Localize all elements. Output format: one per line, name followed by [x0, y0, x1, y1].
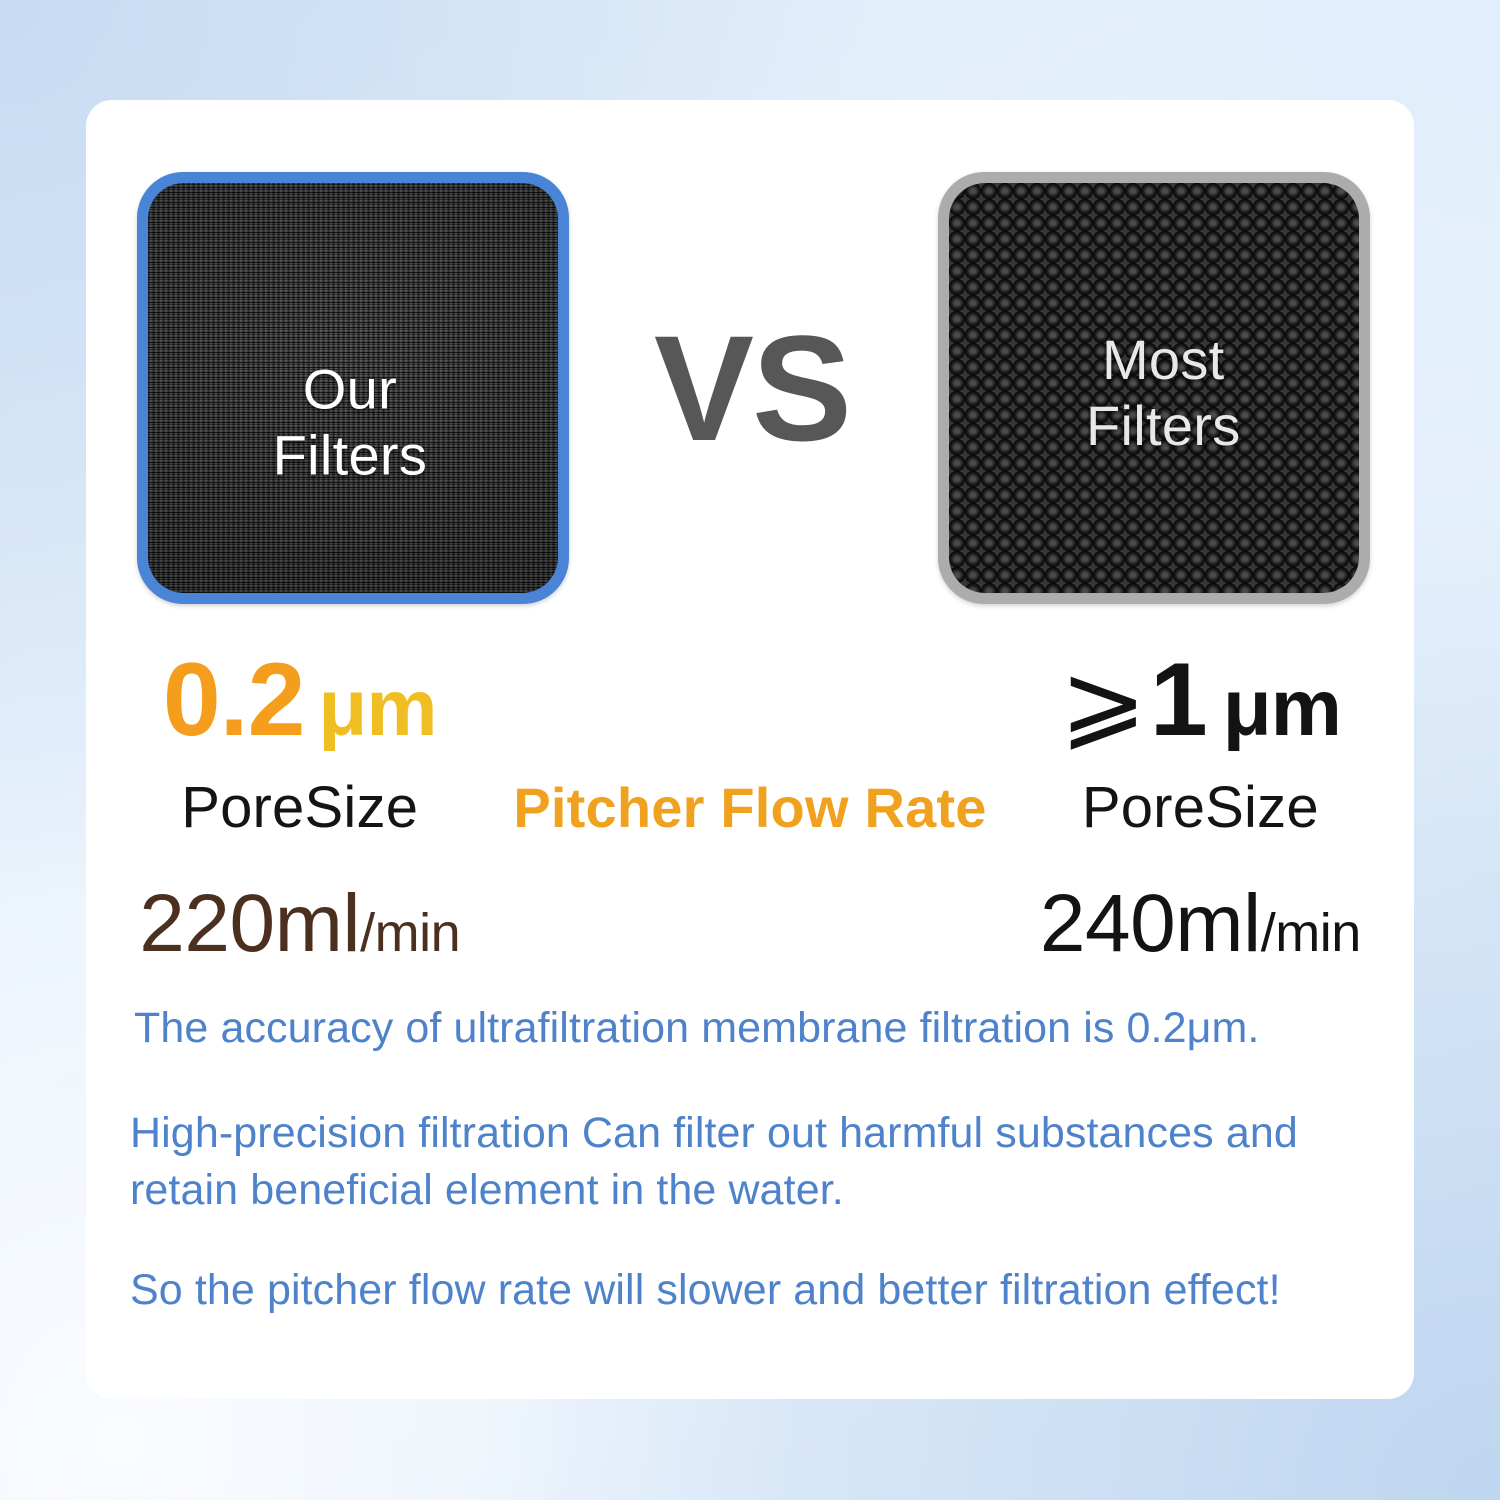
- description-paragraph-1: The accuracy of ultrafiltration membrane…: [112, 1000, 1390, 1057]
- ours-filter-panel: Our Filters: [137, 172, 569, 604]
- spec-spacer-top: [513, 630, 986, 752]
- comparison-panels: Our Filters VS Most Filters: [86, 172, 1414, 604]
- most-pore-value: ⩾1μm: [1060, 648, 1341, 752]
- greater-equal-icon: ⩾: [1060, 650, 1146, 754]
- ours-pore-value: 0.2μm: [163, 648, 437, 752]
- spec-grid: 0.2μm ⩾1μm PoreSize Pitcher Flow Rate Po…: [86, 630, 1414, 984]
- ours-flow-value-cell: 220ml/min: [86, 864, 513, 984]
- spec-spacer-bottom: [513, 864, 986, 984]
- ours-flow-value: 220ml/min: [139, 883, 460, 965]
- most-pore-value-cell: ⩾1μm: [987, 630, 1414, 752]
- ours-pore-number: 0.2: [163, 642, 305, 758]
- most-flow-value: 240ml/min: [1040, 883, 1361, 965]
- ours-panel-label: Our Filters: [273, 357, 428, 489]
- most-flow-unit: /min: [1261, 903, 1361, 963]
- most-pore-number: 1: [1150, 648, 1207, 752]
- pitcher-flow-rate-label: Pitcher Flow Rate: [513, 780, 986, 836]
- ours-flow-unit: /min: [360, 903, 460, 963]
- most-flow-number: 240ml: [1040, 878, 1261, 969]
- most-poresize-label: PoreSize: [1082, 779, 1319, 837]
- description-paragraph-3: So the pitcher flow rate will slower and…: [112, 1262, 1390, 1319]
- ours-flow-number: 220ml: [139, 878, 360, 969]
- most-filter-panel: Most Filters: [938, 172, 1370, 604]
- content-card: Our Filters VS Most Filters 0.2μm ⩾: [86, 100, 1414, 1399]
- vs-label: VS: [566, 172, 938, 604]
- ours-pore-label-cell: PoreSize: [86, 752, 513, 864]
- ours-pore-unit: μm: [318, 663, 436, 752]
- infographic-page: Our Filters VS Most Filters 0.2μm ⩾: [0, 0, 1500, 1500]
- description-paragraph-2: High-precision filtration Can filter out…: [112, 1105, 1390, 1219]
- ours-poresize-label: PoreSize: [181, 779, 418, 837]
- coarse-mesh-texture: Most Filters: [949, 183, 1359, 593]
- most-pore-unit: μm: [1223, 668, 1341, 748]
- most-panel-label: Most Filters: [1086, 327, 1241, 459]
- fine-mesh-texture: Our Filters: [148, 183, 558, 593]
- most-pore-label-cell: PoreSize: [987, 752, 1414, 864]
- description-block: The accuracy of ultrafiltration membrane…: [86, 1000, 1414, 1319]
- ours-pore-value-cell: 0.2μm: [86, 630, 513, 752]
- flow-rate-label-cell: Pitcher Flow Rate: [513, 752, 986, 864]
- most-flow-value-cell: 240ml/min: [987, 864, 1414, 984]
